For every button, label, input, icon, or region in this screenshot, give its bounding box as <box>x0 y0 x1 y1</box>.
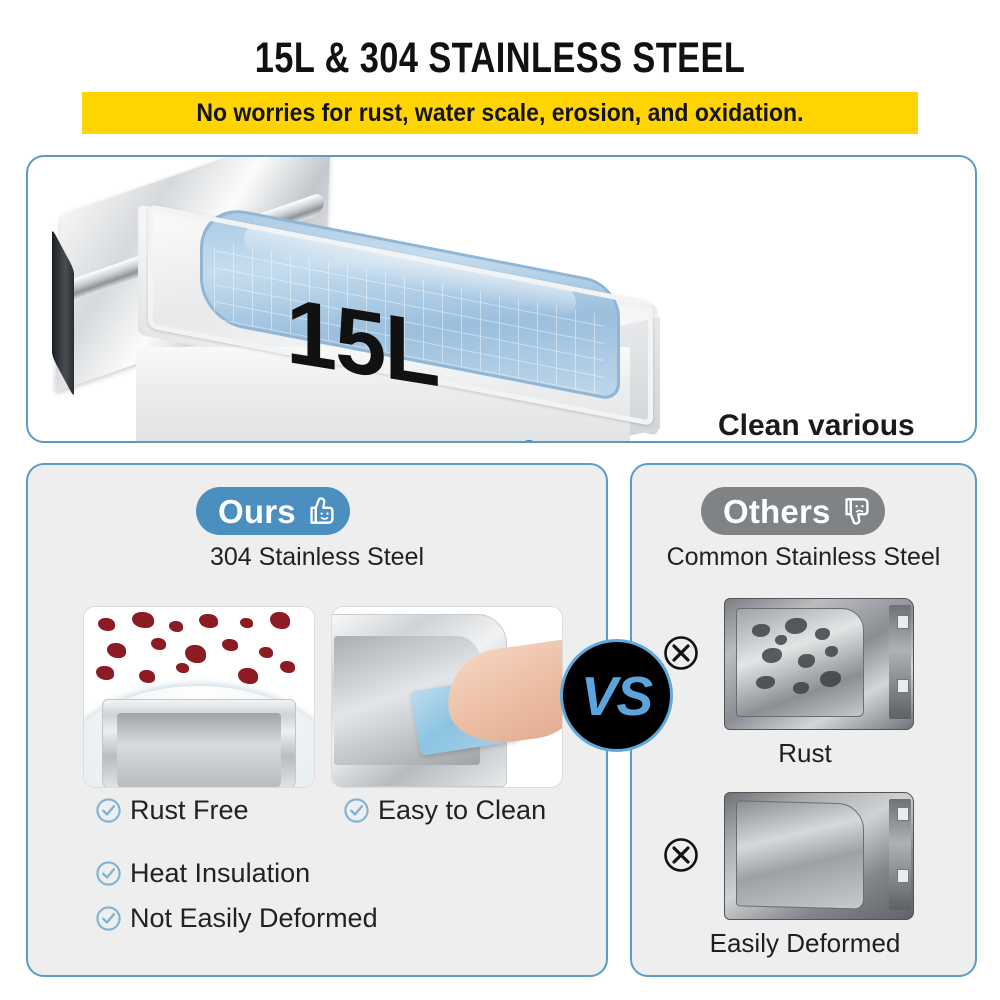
deformed-tank-photo: Easily Deformed <box>660 800 950 965</box>
cleaner-illustration: 15L Clean various <box>28 157 977 443</box>
others-badge-label: Others <box>723 495 831 528</box>
steel-pan <box>102 699 295 788</box>
ours-badge: Ours <box>196 487 350 535</box>
check-circle-icon <box>95 797 122 824</box>
x-circle-icon <box>660 632 702 674</box>
ours-subtitle: 304 Stainless Steel <box>26 543 608 572</box>
hero-panel: 15L Clean various <box>26 155 977 443</box>
tank-tab <box>897 615 909 629</box>
check-circle-icon <box>95 905 122 932</box>
check-circle-icon <box>343 797 370 824</box>
page-title: 15L & 304 STAINLESS STEEL <box>100 34 900 83</box>
tank-tab <box>897 679 909 693</box>
rusty-tank-inner <box>736 608 864 717</box>
hero-caption: Clean various items at one time <box>718 407 977 443</box>
hero-caption-line1: Clean various <box>718 407 977 443</box>
thumbs-up-icon <box>302 494 336 528</box>
subtitle-banner: No worries for rust, water scale, erosio… <box>82 92 918 134</box>
ours-badge-label: Ours <box>218 495 296 528</box>
subtitle-text: No worries for rust, water scale, erosio… <box>196 99 803 128</box>
rust-free-photo <box>83 606 315 788</box>
steel-pan-inner <box>117 713 281 788</box>
deformed-tank-body <box>724 792 914 920</box>
rusty-tank-photo: Rust <box>660 598 950 773</box>
others-badge: Others <box>701 487 885 535</box>
defect-label: Easily Deformed <box>660 928 950 959</box>
feature-rust-free: Rust Free <box>95 795 249 826</box>
feature-label: Heat Insulation <box>130 858 310 889</box>
feature-label: Rust Free <box>130 795 249 826</box>
deformed-tank-inner <box>736 800 864 909</box>
tank-tab <box>897 807 909 821</box>
defect-label: Rust <box>660 738 950 769</box>
thumbs-down-icon <box>837 494 871 528</box>
easy-clean-photo <box>331 606 563 788</box>
vs-badge: VS <box>560 639 673 752</box>
tank-tab <box>897 869 909 883</box>
feature-not-deformed: Not Easily Deformed <box>95 903 378 934</box>
feature-label: Not Easily Deformed <box>130 903 378 934</box>
infographic-page: 15L & 304 STAINLESS STEEL No worries for… <box>0 0 1000 1000</box>
volume-label: 15L <box>286 285 439 401</box>
feature-label: Easy to Clean <box>378 795 546 826</box>
x-circle-icon <box>660 834 702 876</box>
feature-heat-insulation: Heat Insulation <box>95 858 310 889</box>
feature-easy-clean: Easy to Clean <box>343 795 546 826</box>
rusty-tank-body <box>724 598 914 730</box>
check-circle-icon <box>95 860 122 887</box>
vs-label: VS <box>581 664 652 728</box>
others-subtitle: Common Stainless Steel <box>630 543 977 572</box>
